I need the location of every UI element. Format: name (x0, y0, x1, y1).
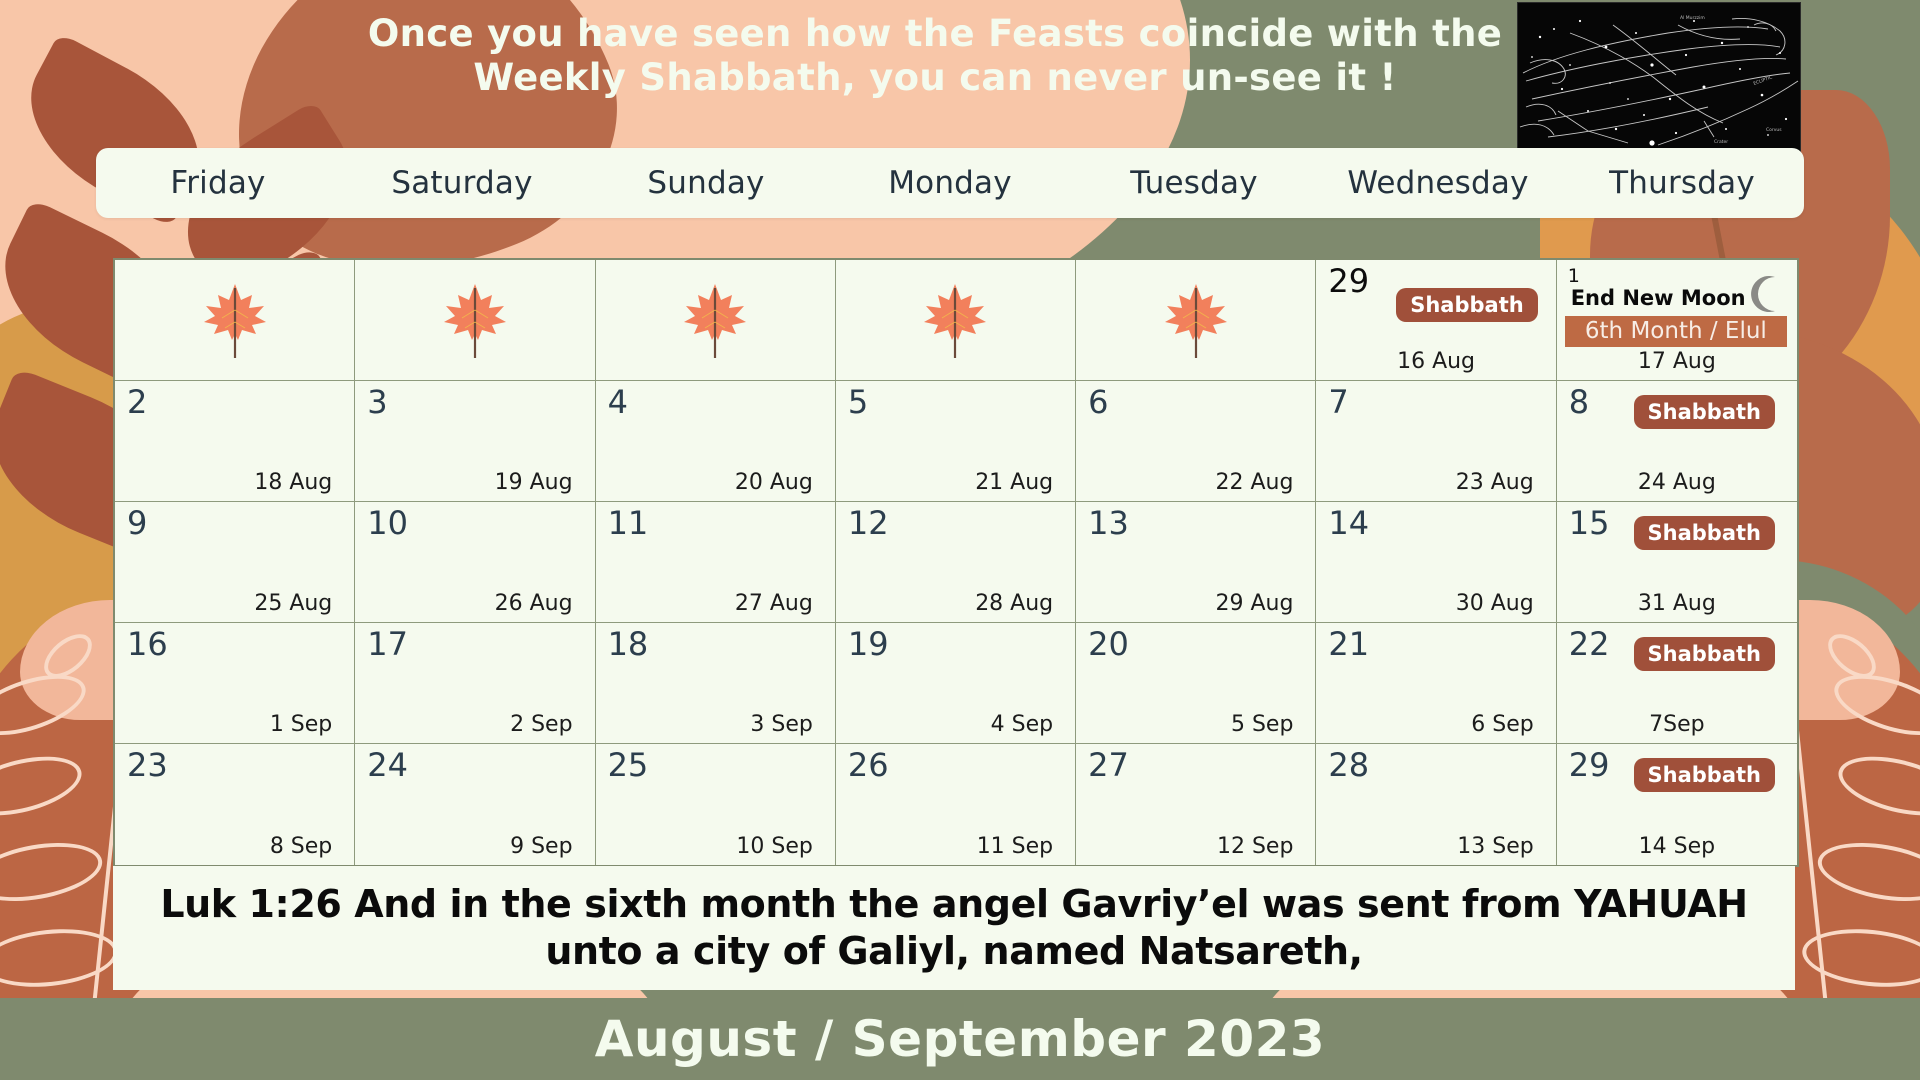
shabbath-badge: Shabbath (1634, 395, 1775, 429)
calendar-cell[interactable]: 7 23 Aug (1316, 381, 1556, 502)
day-number: 8 (1569, 385, 1589, 420)
day-number: 23 (127, 748, 168, 783)
maple-leaf-icon (440, 280, 510, 360)
day-number: 24 (367, 748, 408, 783)
calendar-cell[interactable]: 6 22 Aug (1076, 381, 1316, 502)
day-number: 15 (1569, 506, 1610, 541)
calendar-cell[interactable] (115, 260, 355, 381)
day-number: 14 (1328, 506, 1369, 541)
day-number: 26 (848, 748, 889, 783)
gregorian-date: 12 Sep (1217, 834, 1293, 859)
calendar-cell[interactable] (596, 260, 836, 381)
day-number: 3 (367, 385, 387, 420)
calendar-cell[interactable]: 9 25 Aug (115, 502, 355, 623)
day-number: 27 (1088, 748, 1129, 783)
day-number: 17 (367, 627, 408, 662)
calendar-cell[interactable]: 10 26 Aug (355, 502, 595, 623)
gregorian-date: 8 Sep (270, 834, 332, 859)
day-number: 6 (1088, 385, 1108, 420)
calendar-cell[interactable] (1076, 260, 1316, 381)
calendar-cell[interactable]: 11 27 Aug (596, 502, 836, 623)
gregorian-date: 6 Sep (1471, 712, 1533, 737)
gregorian-date: 4 Sep (991, 712, 1053, 737)
weekday-wednesday: Wednesday (1316, 165, 1560, 201)
headline-line-2: Weekly Shabbath, you can never un-see it… (330, 56, 1540, 100)
calendar-cell[interactable]: 17 2 Sep (355, 623, 595, 744)
day-number: 28 (1328, 748, 1369, 783)
day-number: 11 (608, 506, 649, 541)
weekday-tuesday: Tuesday (1072, 165, 1316, 201)
gregorian-date: 28 Aug (975, 591, 1053, 616)
gregorian-date: 11 Sep (977, 834, 1053, 859)
calendar-cell[interactable]: 18 3 Sep (596, 623, 836, 744)
day-number: 22 (1569, 627, 1610, 662)
day-number: 29 (1328, 264, 1369, 299)
maple-leaf-icon (680, 280, 750, 360)
gregorian-date: 18 Aug (254, 470, 332, 495)
gregorian-date: 21 Aug (975, 470, 1053, 495)
calendar-grid: 29 Shabbath 16 Aug 1 End New Moon 6th Mo… (113, 258, 1799, 867)
scripture-line-1: Luk 1:26 And in the sixth month the ange… (160, 882, 1747, 926)
gregorian-date: 30 Aug (1456, 591, 1534, 616)
calendar-cell[interactable]: 14 30 Aug (1316, 502, 1556, 623)
calendar-cell[interactable]: 2 18 Aug (115, 381, 355, 502)
gregorian-date: 22 Aug (1215, 470, 1293, 495)
gregorian-date: 13 Sep (1457, 834, 1533, 859)
gregorian-date: 26 Aug (495, 591, 573, 616)
hebrew-month-band: 6th Month / Elul (1565, 316, 1787, 347)
gregorian-date: 10 Sep (736, 834, 812, 859)
day-number: 1 (1568, 266, 1580, 287)
gregorian-date: 17 Aug (1557, 349, 1797, 374)
gregorian-date: 31 Aug (1557, 591, 1797, 616)
gregorian-date: 1 Sep (270, 712, 332, 737)
day-number: 13 (1088, 506, 1129, 541)
shabbath-badge: Shabbath (1396, 288, 1537, 322)
shabbath-badge: Shabbath (1634, 637, 1775, 671)
shabbath-badge: Shabbath (1634, 516, 1775, 550)
day-number: 5 (848, 385, 868, 420)
calendar-cell[interactable]: 23 8 Sep (115, 744, 355, 865)
maple-leaf-icon (920, 280, 990, 360)
calendar-cell[interactable]: 12 28 Aug (836, 502, 1076, 623)
calendar-cell[interactable]: 3 19 Aug (355, 381, 595, 502)
calendar-cell[interactable]: 29 Shabbath 16 Aug (1316, 260, 1556, 381)
gregorian-date: 9 Sep (510, 834, 572, 859)
gregorian-date: 3 Sep (750, 712, 812, 737)
weekday-saturday: Saturday (340, 165, 584, 201)
maple-leaf-icon (200, 280, 270, 360)
calendar-cell[interactable] (836, 260, 1076, 381)
maple-leaf-icon (1161, 280, 1231, 360)
scripture-panel: Luk 1:26 And in the sixth month the ange… (113, 866, 1795, 990)
gregorian-date: 29 Aug (1215, 591, 1293, 616)
gregorian-date: 14 Sep (1557, 834, 1797, 859)
month-title: August / September 2023 (595, 1010, 1325, 1068)
shabbath-badge: Shabbath (1634, 758, 1775, 792)
gregorian-date: 5 Sep (1231, 712, 1293, 737)
svg-text:Al Murzzim: Al Murzzim (1680, 15, 1705, 21)
day-number: 10 (367, 506, 408, 541)
end-new-moon-label: End New Moon (1571, 286, 1746, 310)
gregorian-date: 19 Aug (495, 470, 573, 495)
month-title-bar: August / September 2023 (0, 998, 1920, 1080)
day-number: 9 (127, 506, 147, 541)
weekday-monday: Monday (828, 165, 1072, 201)
day-number: 29 (1569, 748, 1610, 783)
day-number: 20 (1088, 627, 1129, 662)
calendar-cell[interactable]: 21 6 Sep (1316, 623, 1556, 744)
calendar-cell[interactable]: 5 21 Aug (836, 381, 1076, 502)
day-number: 25 (608, 748, 649, 783)
scripture-line-2: unto a city of Galiyl, named Natsareth, (545, 929, 1362, 973)
star-chart-image: Al Murzzim ECLIPTIC Corvus Crater (1517, 2, 1801, 152)
calendar-cell[interactable]: 24 9 Sep (355, 744, 595, 865)
crescent-moon-icon (1745, 274, 1785, 314)
gregorian-date: 7Sep (1557, 712, 1797, 737)
weekday-friday: Friday (96, 165, 340, 201)
day-number: 16 (127, 627, 168, 662)
calendar-cell[interactable]: 26 11 Sep (836, 744, 1076, 865)
gregorian-date: 23 Aug (1456, 470, 1534, 495)
gregorian-date: 20 Aug (735, 470, 813, 495)
day-number: 12 (848, 506, 889, 541)
calendar-cell[interactable]: 4 20 Aug (596, 381, 836, 502)
gregorian-date: 27 Aug (735, 591, 813, 616)
calendar-cell[interactable]: 27 12 Sep (1076, 744, 1316, 865)
day-number: 7 (1328, 385, 1348, 420)
svg-text:Corvus: Corvus (1766, 127, 1782, 133)
calendar-cell[interactable]: 20 5 Sep (1076, 623, 1316, 744)
gregorian-date: 2 Sep (510, 712, 572, 737)
weekday-thursday: Thursday (1560, 165, 1804, 201)
gregorian-date: 24 Aug (1557, 470, 1797, 495)
headline-line-1: Once you have seen how the Feasts coinci… (330, 12, 1540, 56)
calendar-cell[interactable]: 19 4 Sep (836, 623, 1076, 744)
svg-text:Crater: Crater (1714, 139, 1728, 145)
headline: Once you have seen how the Feasts coinci… (330, 12, 1540, 101)
calendar-cell[interactable]: 29 Shabbath 14 Sep (1557, 744, 1797, 865)
calendar-cell[interactable]: 16 1 Sep (115, 623, 355, 744)
gregorian-date: 25 Aug (254, 591, 332, 616)
calendar-cell[interactable]: 22 Shabbath 7Sep (1557, 623, 1797, 744)
day-number: 4 (608, 385, 628, 420)
calendar-cell[interactable]: 28 13 Sep (1316, 744, 1556, 865)
calendar-cell[interactable]: 15 Shabbath 31 Aug (1557, 502, 1797, 623)
calendar-cell[interactable] (355, 260, 595, 381)
calendar-cell-new-moon[interactable]: 1 End New Moon 6th Month / Elul 17 Aug (1557, 260, 1797, 381)
calendar-cell[interactable]: 8 Shabbath 24 Aug (1557, 381, 1797, 502)
gregorian-date: 16 Aug (1316, 349, 1555, 374)
weekday-sunday: Sunday (584, 165, 828, 201)
weekday-header-bar: Friday Saturday Sunday Monday Tuesday We… (96, 148, 1804, 218)
calendar-cell[interactable]: 25 10 Sep (596, 744, 836, 865)
day-number: 21 (1328, 627, 1369, 662)
day-number: 19 (848, 627, 889, 662)
day-number: 2 (127, 385, 147, 420)
calendar-cell[interactable]: 13 29 Aug (1076, 502, 1316, 623)
day-number: 18 (608, 627, 649, 662)
